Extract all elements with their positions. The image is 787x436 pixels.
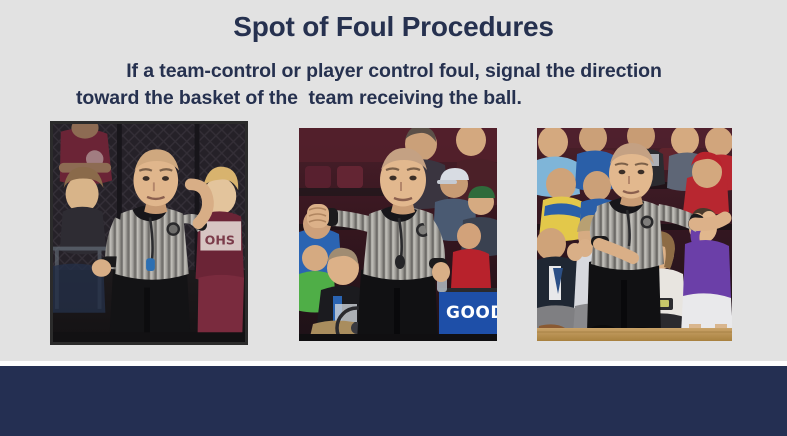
photo-3-image: [537, 128, 732, 341]
subtitle-line-1: If a team-control or player control foul…: [34, 58, 754, 85]
slide-subtitle: If a team-control or player control foul…: [34, 58, 754, 112]
page-title: Spot of Foul Procedures: [0, 10, 787, 44]
photo-1-image: OHS: [53, 124, 245, 342]
svg-text:GOOD: GOOD: [446, 303, 497, 323]
footer-bar: IAABO: [0, 366, 787, 436]
subtitle-line-2: toward the basket of the team receiving …: [34, 85, 754, 112]
photo-2-image: GOOD: [299, 128, 497, 341]
photo-referee-arm-extended-fist: Referee with arm extended and closed fis…: [299, 128, 497, 341]
svg-text:OHS: OHS: [205, 233, 235, 248]
photo-referee-pointing-direction: Referee pointing direction toward basket…: [537, 128, 732, 341]
photo-referee-hand-behind-head: Referee signaling team control foul with…: [50, 121, 248, 345]
slide-canvas: Spot of Foul Procedures If a team-contro…: [0, 0, 787, 436]
